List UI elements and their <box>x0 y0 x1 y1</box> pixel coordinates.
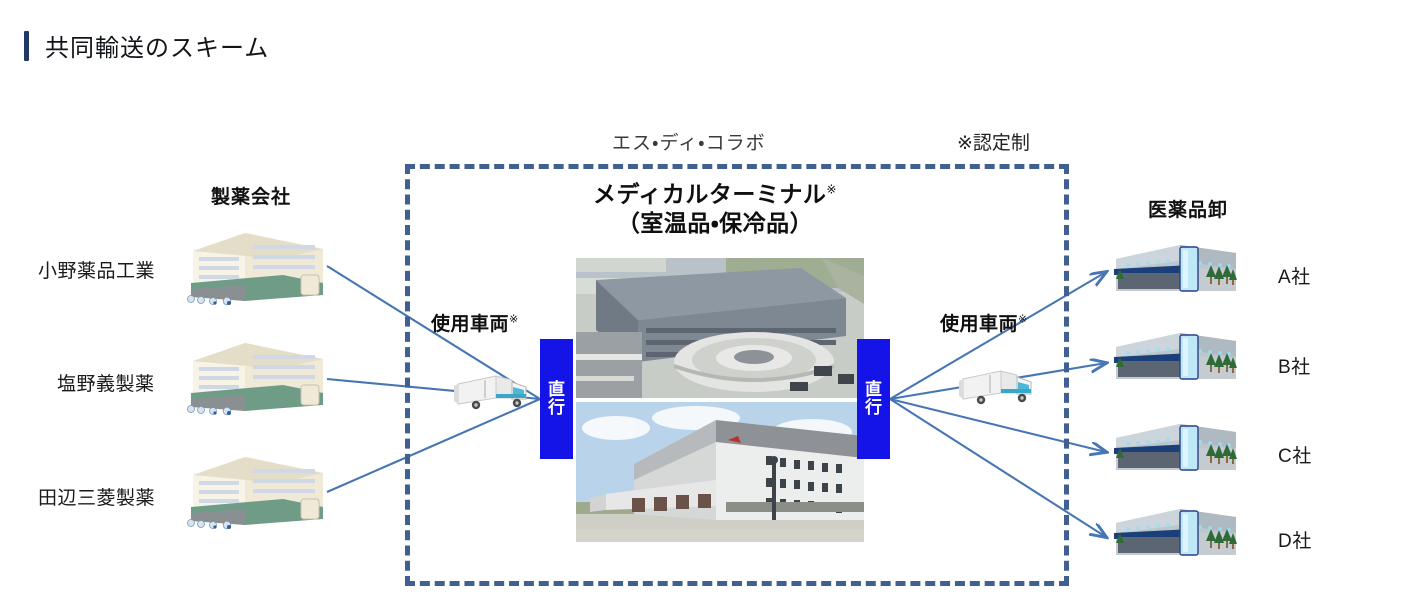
wholesaler-building-icon <box>1108 418 1242 480</box>
direct-run-char-1: 直 <box>548 381 565 399</box>
scheme-diagram: エス・ディ・コラボ ※認定制 製薬会社 医薬品卸 メディカルターミナル※ （室温… <box>0 0 1411 607</box>
terminal-name: メディカルターミナル <box>593 181 826 207</box>
terminal-subtitle: （室温品・保冷品） <box>555 209 875 238</box>
truck-icon-outbound <box>957 363 1041 411</box>
wholesaler-building-icon <box>1108 503 1242 565</box>
vehicle-label-inbound: 使用車両※ <box>431 309 519 336</box>
direct-run-char-2: 行 <box>865 399 882 417</box>
terminal-heading: メディカルターミナル※ （室温品・保冷品） <box>555 180 875 239</box>
ground-level-warehouse-photo <box>576 402 864 542</box>
direct-run-char-1: 直 <box>865 381 882 399</box>
maker-label: 田辺三菱製薬 <box>38 483 155 510</box>
vehicle-label-inbound-mark: ※ <box>509 314 519 326</box>
wholesaler-label: B社 <box>1278 352 1311 379</box>
maker-building-icon <box>183 455 328 535</box>
wholesaler-label: D社 <box>1278 526 1312 553</box>
wholesaler-label: A社 <box>1278 262 1311 289</box>
maker-building-icon <box>183 231 328 311</box>
maker-label: 塩野義製薬 <box>57 369 155 396</box>
truck-icon-inbound <box>452 368 536 416</box>
vehicle-label-inbound-text: 使用車両 <box>431 314 509 335</box>
direct-run-box-outbound: 直 行 <box>857 339 890 459</box>
direct-run-box-inbound: 直 行 <box>540 339 573 459</box>
wholesaler-building-icon <box>1108 239 1242 301</box>
collaboration-caption: エス・ディ・コラボ <box>612 128 766 155</box>
terminal-name-line: メディカルターミナル※ <box>555 180 875 209</box>
certification-note: ※認定制 <box>957 128 1030 155</box>
maker-label: 小野薬品工業 <box>38 256 155 283</box>
vehicle-label-outbound-mark: ※ <box>1018 314 1028 326</box>
vehicle-label-outbound-text: 使用車両 <box>940 314 1018 335</box>
maker-building-icon <box>183 341 328 421</box>
wholesaler-label: C社 <box>1278 441 1312 468</box>
wholesaler-building-icon <box>1108 327 1242 389</box>
terminal-name-mark: ※ <box>826 182 837 196</box>
vehicle-label-outbound: 使用車両※ <box>940 309 1028 336</box>
direct-run-char-2: 行 <box>548 399 565 417</box>
aerial-logistics-facility-photo <box>576 258 864 398</box>
wholesaler-column-header: 医薬品卸 <box>1148 195 1228 222</box>
maker-column-header: 製薬会社 <box>211 182 291 209</box>
